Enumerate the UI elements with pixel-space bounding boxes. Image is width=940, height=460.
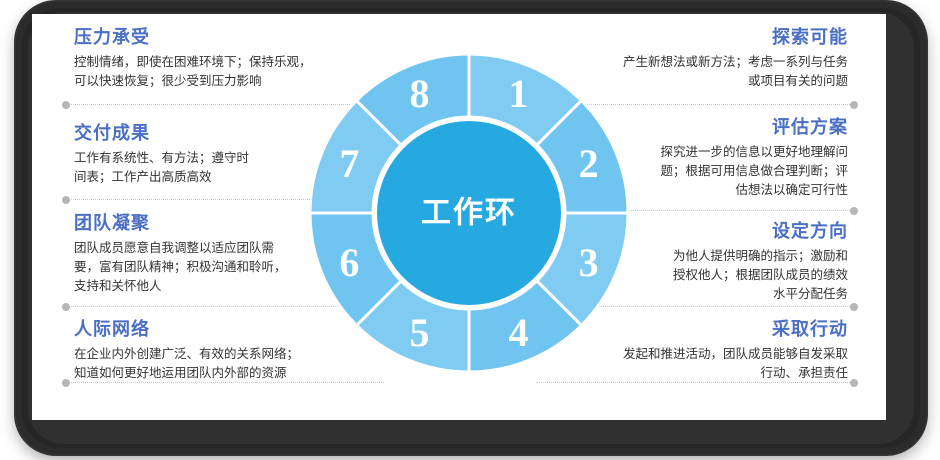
divider-dot-icon (850, 303, 858, 311)
divider-right-4 (536, 382, 858, 384)
entry-8-title: 压力承受 (62, 26, 392, 49)
wheel-number-3: 3 (579, 240, 599, 285)
screenshot-root: 压力承受 控制情绪，即使在困难环境下；保持乐观， 可以快速恢复；很少受到压力影响… (0, 0, 940, 460)
wheel-number-7: 7 (339, 141, 359, 186)
wheel-number-8: 8 (409, 71, 429, 116)
divider-dot-icon (850, 207, 858, 215)
divider-dot-icon (62, 379, 70, 387)
divider-dot-icon (62, 101, 70, 109)
divider-dot-icon (850, 101, 858, 109)
wheel-number-2: 2 (579, 141, 599, 186)
divider-dot-icon (62, 196, 70, 204)
divider-dot-icon (850, 379, 858, 387)
wheel-svg: 工作环 12345678 (310, 54, 628, 372)
slide-content-panel: 压力承受 控制情绪，即使在困难环境下；保持乐观， 可以快速恢复；很少受到压力影响… (32, 14, 886, 420)
entry-1-title: 探索可能 (528, 26, 858, 49)
wheel-number-1: 1 (509, 71, 529, 116)
divider-left-4 (62, 382, 384, 384)
work-cycle-wheel[interactable]: 工作环 12345678 (310, 54, 628, 372)
divider-dot-icon (62, 303, 70, 311)
wheel-number-4: 4 (509, 310, 529, 355)
wheel-number-5: 5 (409, 310, 429, 355)
wheel-number-6: 6 (339, 240, 359, 285)
wheel-center-label: 工作环 (421, 197, 517, 230)
